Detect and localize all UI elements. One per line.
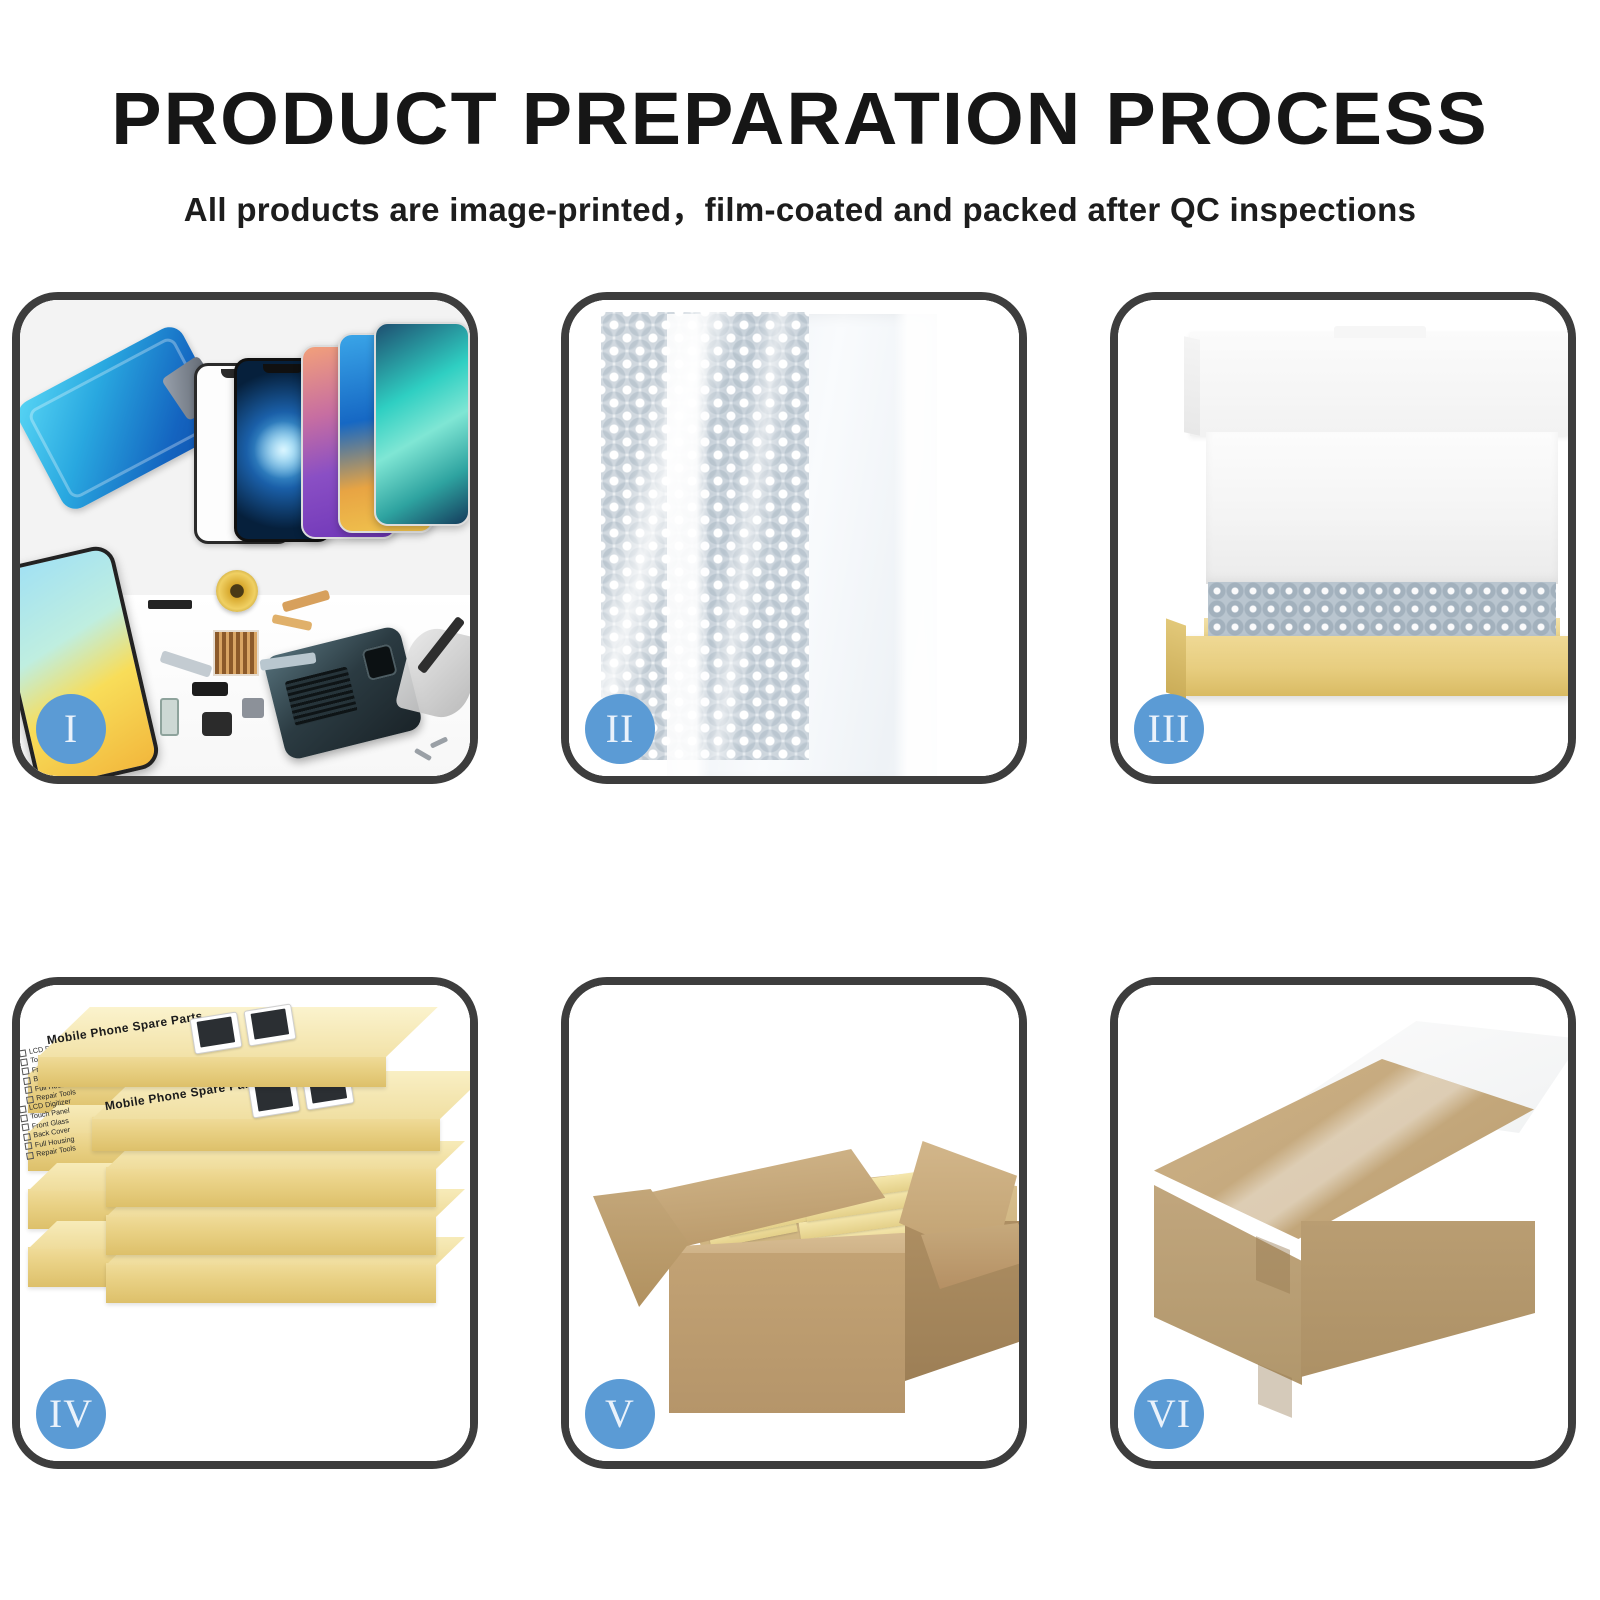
sim-tray-part: [160, 698, 179, 736]
white-inner-panel: [1206, 432, 1558, 584]
step-panel-6[interactable]: VI: [1110, 977, 1576, 1469]
vibration-motor-part: [242, 698, 264, 718]
step-badge-2: II: [585, 694, 655, 764]
white-box-lid: [1190, 332, 1568, 436]
stacked-box-front-4: [106, 1263, 436, 1303]
step-panel-4[interactable]: Mobile Phone Spare Parts LCD Digitizer T…: [12, 977, 478, 1469]
loudspeaker-module-part: [202, 712, 232, 736]
checkbox-icon: [23, 1077, 31, 1085]
screen-display-area: [197, 1017, 235, 1047]
process-row-top: I II III: [0, 292, 1600, 784]
stacked-box-front-3: [106, 1215, 436, 1255]
page-title: PRODUCT PREPARATION PROCESS: [0, 82, 1600, 156]
process-steps-grid: I II III: [0, 292, 1600, 1469]
box-screen-image-1b: [243, 1003, 296, 1046]
stacked-box-front-2: [106, 1167, 436, 1207]
step-panel-2[interactable]: II: [561, 292, 1027, 784]
step-panel-3[interactable]: III: [1110, 292, 1576, 784]
screen-display-area: [251, 1009, 289, 1039]
gold-box-tray: [1182, 636, 1568, 696]
taptic-engine-part: [192, 682, 228, 696]
step-badge-3: III: [1134, 694, 1204, 764]
page-header: PRODUCT PREPARATION PROCESS All products…: [0, 0, 1600, 231]
step-panel-1[interactable]: I: [12, 292, 478, 784]
checkbox-icon: [26, 1152, 34, 1160]
step-badge-4: IV: [36, 1379, 106, 1449]
checkbox-icon: [20, 1058, 28, 1066]
phone-green-display: [374, 322, 470, 526]
carton-front-face: [669, 1253, 905, 1413]
bubble-wrapped-product-inside: [1208, 582, 1556, 638]
earpiece-speaker-part: [148, 600, 192, 609]
page-subtitle: All products are image-printed，film-coat…: [0, 183, 1600, 231]
step-badge-6: VI: [1134, 1379, 1204, 1449]
step-panel-5[interactable]: V: [561, 977, 1027, 1469]
wireless-charging-coil-part: [216, 570, 258, 612]
step-badge-1: I: [36, 694, 106, 764]
step-badge-5: V: [585, 1379, 655, 1449]
box-screen-image-1a: [189, 1011, 242, 1054]
gold-box-stack: Mobile Phone Spare Parts LCD Digitizer T…: [20, 1013, 470, 1443]
ic-chip-part: [213, 630, 259, 676]
pouch-sealed-edges: [667, 314, 937, 776]
process-row-bottom: Mobile Phone Spare Parts LCD Digitizer T…: [0, 977, 1600, 1469]
